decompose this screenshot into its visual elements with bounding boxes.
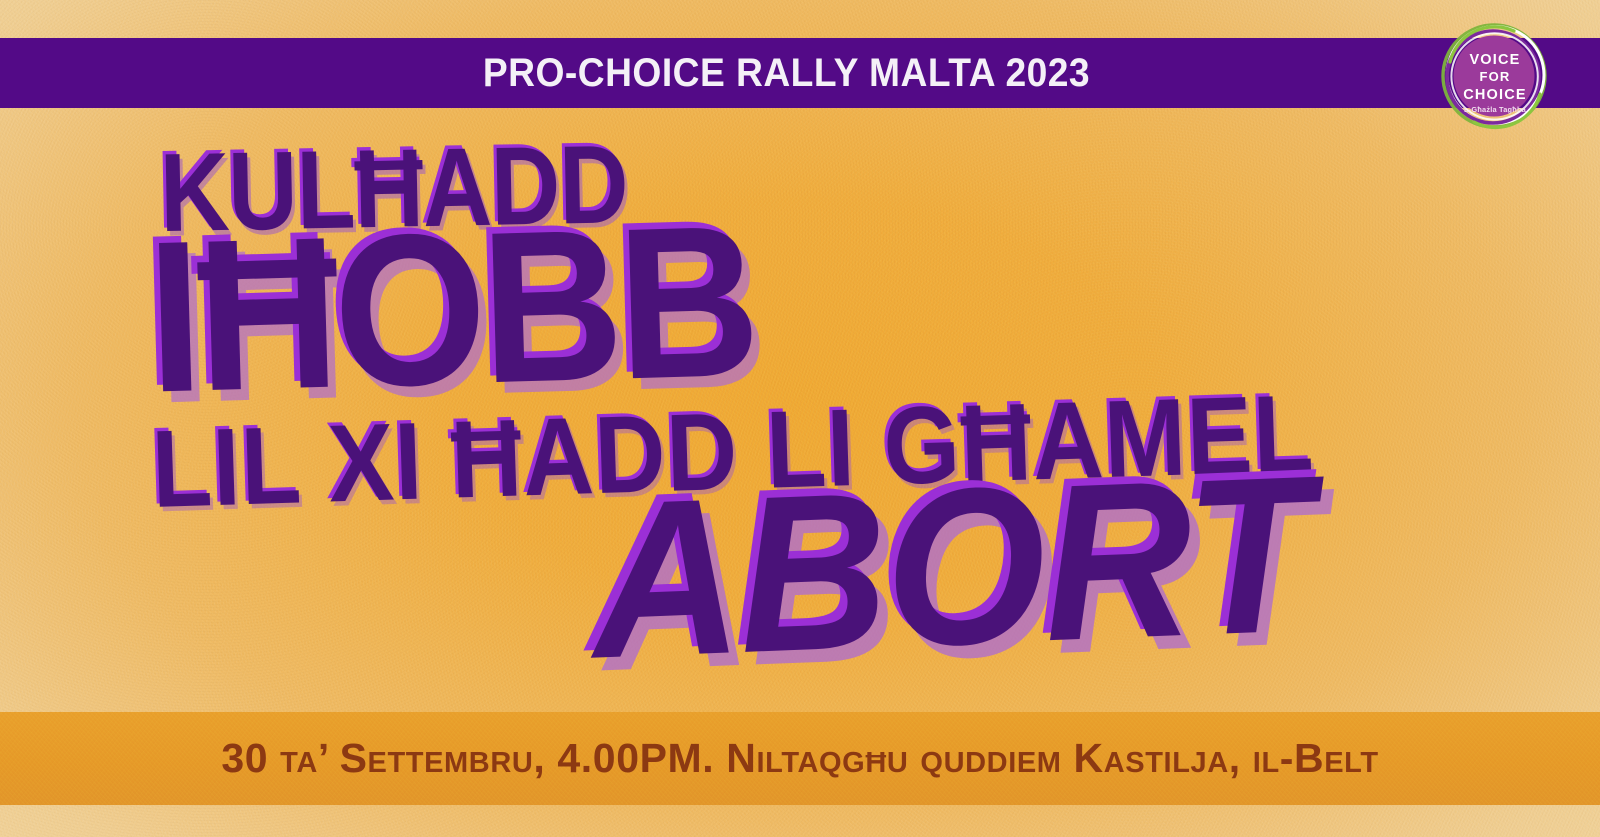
event-title: PRO-CHOICE RALLY MALTA 2023	[482, 51, 1117, 96]
top-banner: PRO-CHOICE RALLY MALTA 2023	[0, 38, 1600, 108]
logo-tagline: L-Għażla Tagħha	[1464, 105, 1527, 114]
logo-svg: VOICE FOR CHOICE L-Għażla Tagħha	[1440, 22, 1548, 130]
footer-bar: 30 ta’ Settembru, 4.00PM. Niltaqgħu qudd…	[0, 712, 1600, 805]
poster-canvas: PRO-CHOICE RALLY MALTA 2023 VOICE FOR CH…	[0, 0, 1600, 837]
headline-block: KULĦADD IĦOBB LIL XI ĦADD LI GĦAMEL ABOR…	[0, 108, 1600, 712]
logo-text-for: FOR	[1479, 69, 1510, 84]
headline-line-4: ABORT	[588, 442, 1315, 692]
voice-for-choice-logo[interactable]: VOICE FOR CHOICE L-Għażla Tagħha	[1440, 22, 1548, 130]
logo-text-voice: VOICE	[1469, 52, 1520, 68]
logo-text-choice: CHOICE	[1463, 87, 1527, 103]
event-details: 30 ta’ Settembru, 4.00PM. Niltaqgħu qudd…	[221, 735, 1378, 782]
